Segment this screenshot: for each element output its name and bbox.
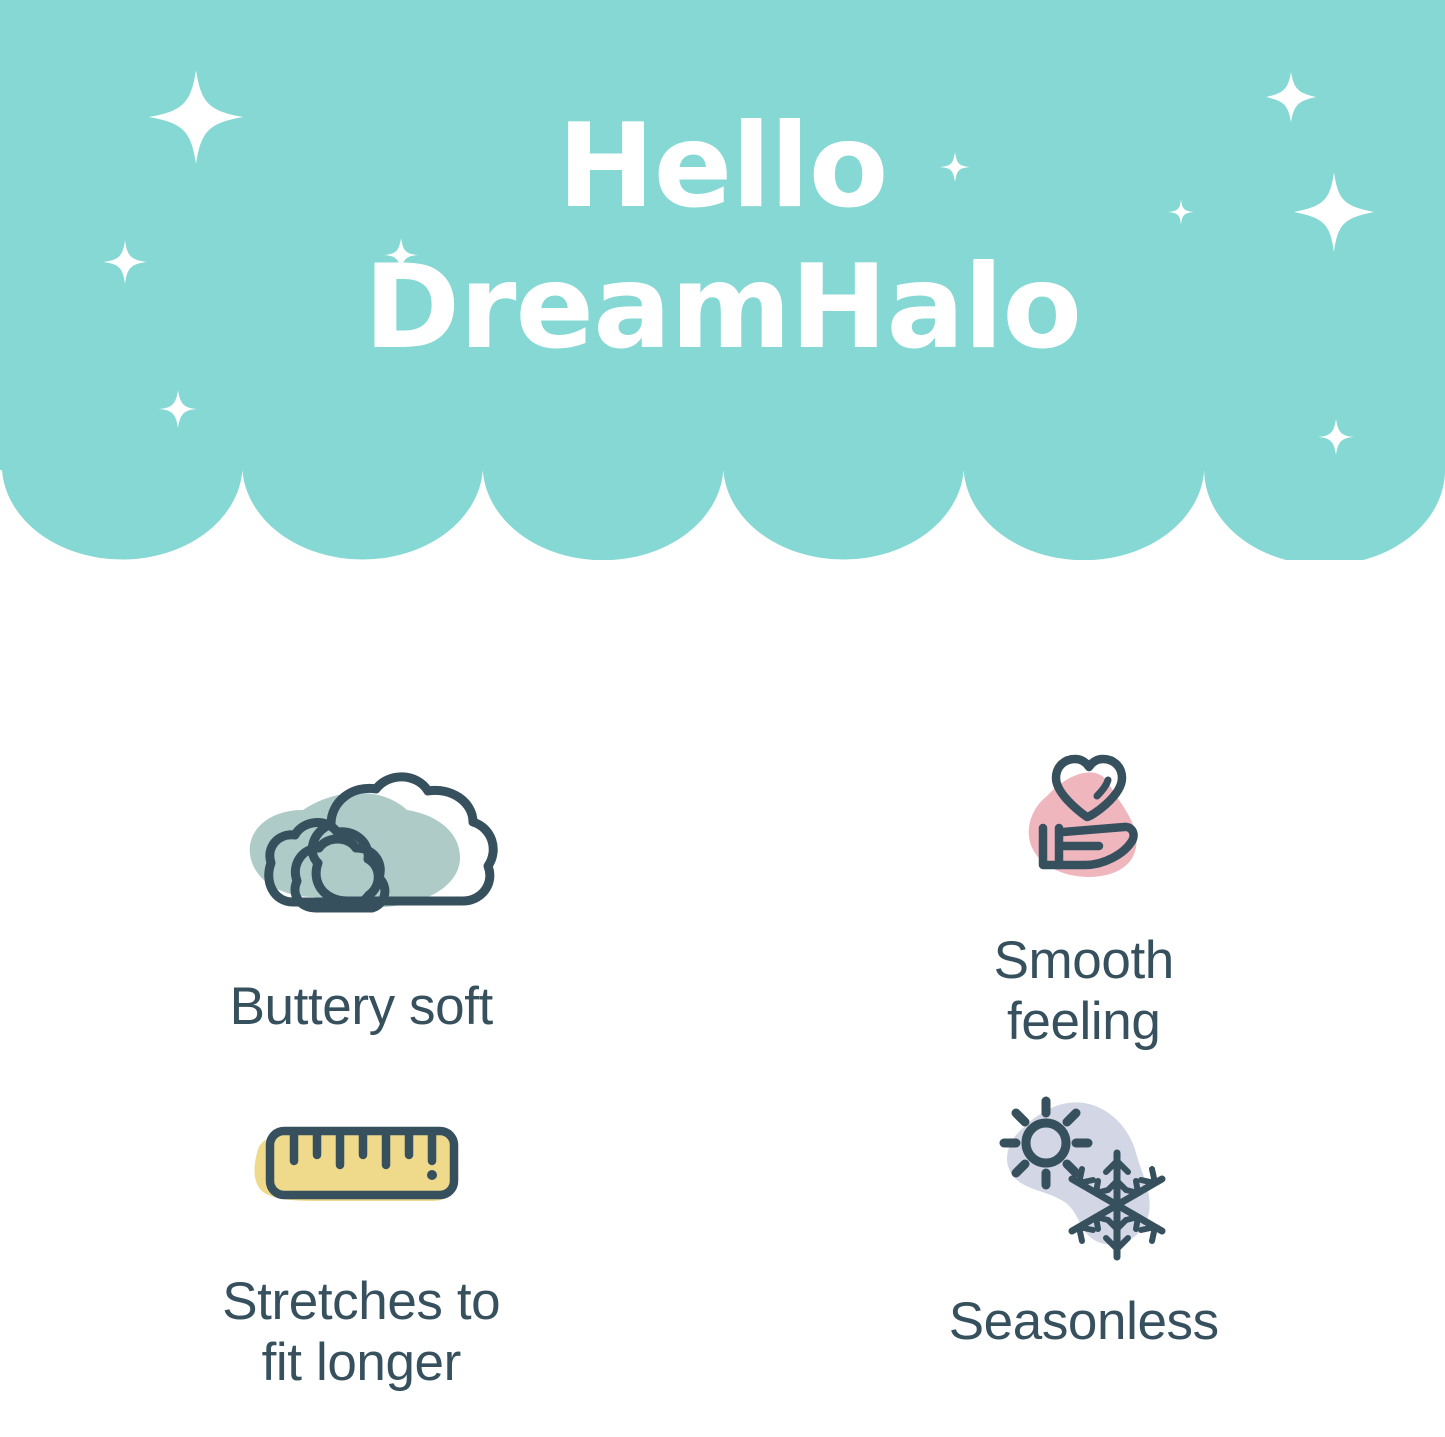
hand-heart-icon-wrapper bbox=[999, 740, 1169, 890]
feature-card-stretches: Stretches to fit longer bbox=[0, 1053, 723, 1437]
ruler-icon bbox=[246, 1113, 476, 1223]
hero-scalloped-background bbox=[0, 0, 1445, 560]
feature-card-smooth-feeling: Smooth feeling bbox=[723, 560, 1445, 1053]
scallop-shape bbox=[0, 0, 1445, 560]
feature-label-seasonless: Seasonless bbox=[949, 1291, 1219, 1352]
feature-label-smooth-feeling: Smooth feeling bbox=[994, 930, 1174, 1053]
ruler-dot bbox=[427, 1170, 437, 1180]
cloud-icon-wrapper bbox=[211, 760, 511, 930]
feature-card-seasonless: Seasonless bbox=[723, 1053, 1445, 1437]
sun-snowflake-icon bbox=[984, 1081, 1184, 1261]
cloud-icon bbox=[211, 758, 511, 933]
feature-card-buttery-soft: Buttery soft bbox=[0, 560, 723, 1053]
hero-banner: Hello DreamHalo bbox=[0, 0, 1445, 560]
ruler-icon-wrapper bbox=[246, 1113, 476, 1223]
hand-heart-icon bbox=[999, 740, 1169, 890]
sun-snowflake-icon-wrapper bbox=[984, 1081, 1184, 1261]
feature-label-buttery-soft: Buttery soft bbox=[230, 976, 493, 1037]
feature-label-stretches: Stretches to fit longer bbox=[222, 1271, 500, 1394]
feature-grid: Buttery soft Smooth feeling bbox=[0, 560, 1445, 1437]
